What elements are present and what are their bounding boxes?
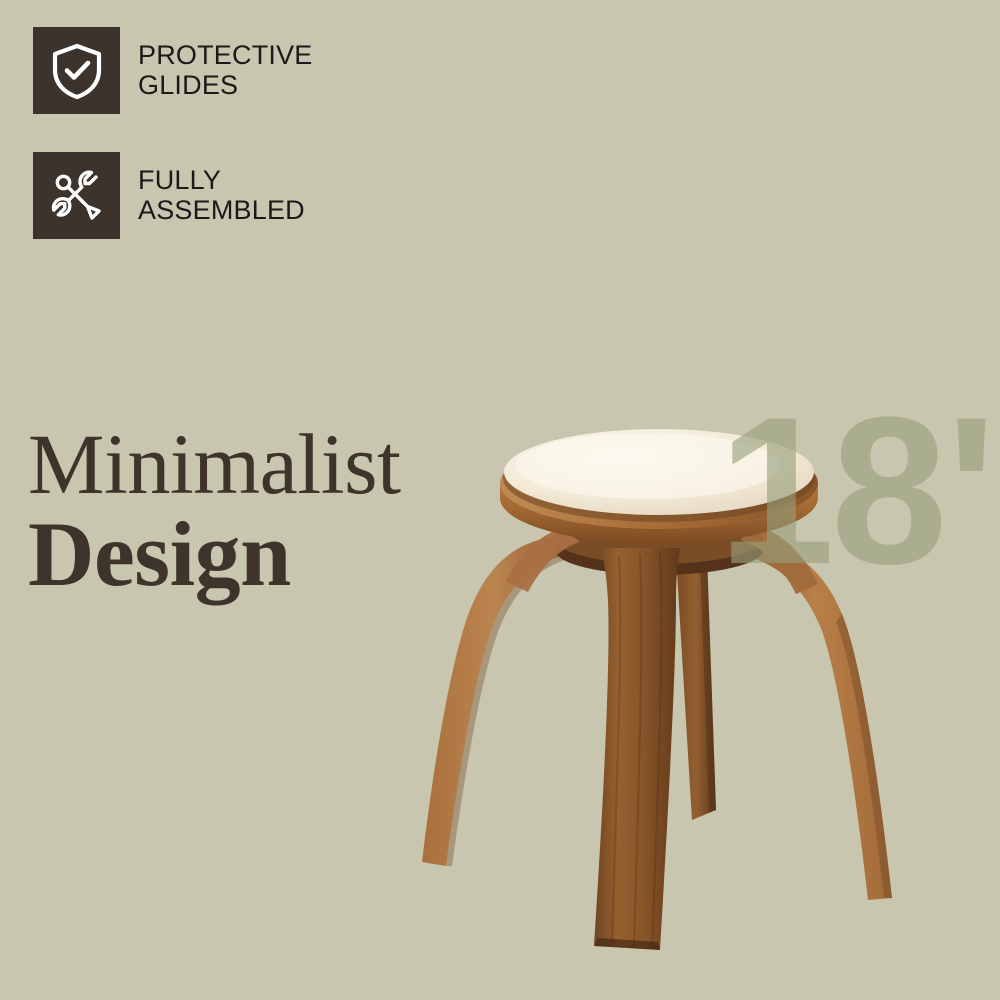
page-title: Minimalist Design [28, 424, 400, 600]
feature-badge-protective-glides: PROTECTIVE GLIDES [33, 27, 313, 114]
stool-leg-back [676, 556, 716, 820]
stool-seat-cushion [504, 429, 814, 515]
badge-icon-container-protective-glides [33, 27, 120, 114]
shield-check-icon [50, 42, 104, 100]
product-marketing-image: 18" PROTECTIVE GLIDES [0, 0, 1000, 1000]
badge-icon-container-fully-assembled [33, 152, 120, 239]
stool-leg-front-center [594, 548, 680, 950]
badge-label-fully-assembled: FULLY ASSEMBLED [138, 166, 305, 224]
stool-leg-right [736, 540, 892, 900]
screwdriver-wrench-icon [49, 168, 105, 224]
headline-line-2: Design [28, 508, 400, 600]
feature-badge-fully-assembled: FULLY ASSEMBLED [33, 152, 305, 239]
badge-label-protective-glides: PROTECTIVE GLIDES [138, 41, 313, 99]
headline-line-1: Minimalist [28, 424, 400, 506]
stool-leg-left [422, 536, 582, 866]
